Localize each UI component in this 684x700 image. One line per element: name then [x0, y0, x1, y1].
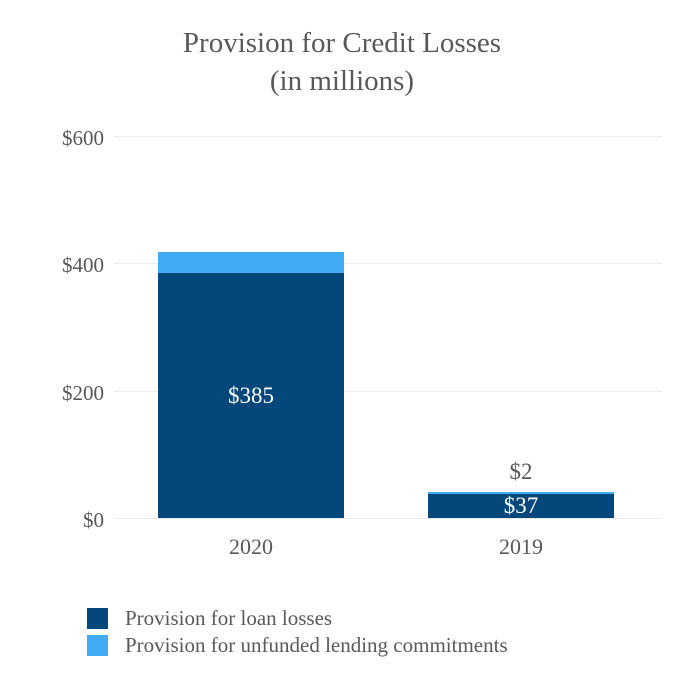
legend-swatch-loan-losses-icon	[87, 608, 108, 629]
chart-title-line-1: Provision for Credit Losses	[0, 24, 684, 62]
bar-value-loan-losses-2019: $37	[428, 494, 614, 517]
plot-area: $385 $37 $2	[114, 136, 662, 518]
x-tick-label-2020: 2020	[158, 536, 344, 558]
bar-value-loan-losses-2020: $385	[158, 384, 344, 407]
chart-legend: Provision for loan losses Provision for …	[87, 605, 508, 659]
gridline-0	[114, 518, 662, 519]
bar-group-2019[interactable]: $37 $2	[428, 492, 614, 518]
bar-segment-unfunded-commitments-2020[interactable]	[158, 252, 344, 273]
x-tick-label-2019: 2019	[428, 536, 614, 558]
y-tick-label-200: $200	[14, 383, 104, 404]
bar-value-unfunded-commitments-2019: $2	[428, 460, 614, 483]
provision-for-credit-losses-chart: Provision for Credit Losses (in millions…	[0, 0, 684, 700]
gridline-600	[114, 136, 662, 137]
y-tick-label-600: $600	[14, 128, 104, 149]
chart-title-subtitle: (in millions)	[0, 62, 684, 100]
legend-item-unfunded-commitments[interactable]: Provision for unfunded lending commitmen…	[87, 632, 508, 659]
legend-swatch-unfunded-commitments-icon	[87, 635, 108, 656]
chart-title: Provision for Credit Losses (in millions…	[0, 24, 684, 100]
y-tick-label-400: $400	[14, 255, 104, 276]
legend-label-unfunded-commitments: Provision for unfunded lending commitmen…	[125, 635, 508, 656]
bar-group-2020[interactable]: $385	[158, 252, 344, 518]
legend-item-loan-losses[interactable]: Provision for loan losses	[87, 605, 508, 632]
legend-label-loan-losses: Provision for loan losses	[125, 608, 332, 629]
y-tick-label-0: $0	[14, 510, 104, 531]
